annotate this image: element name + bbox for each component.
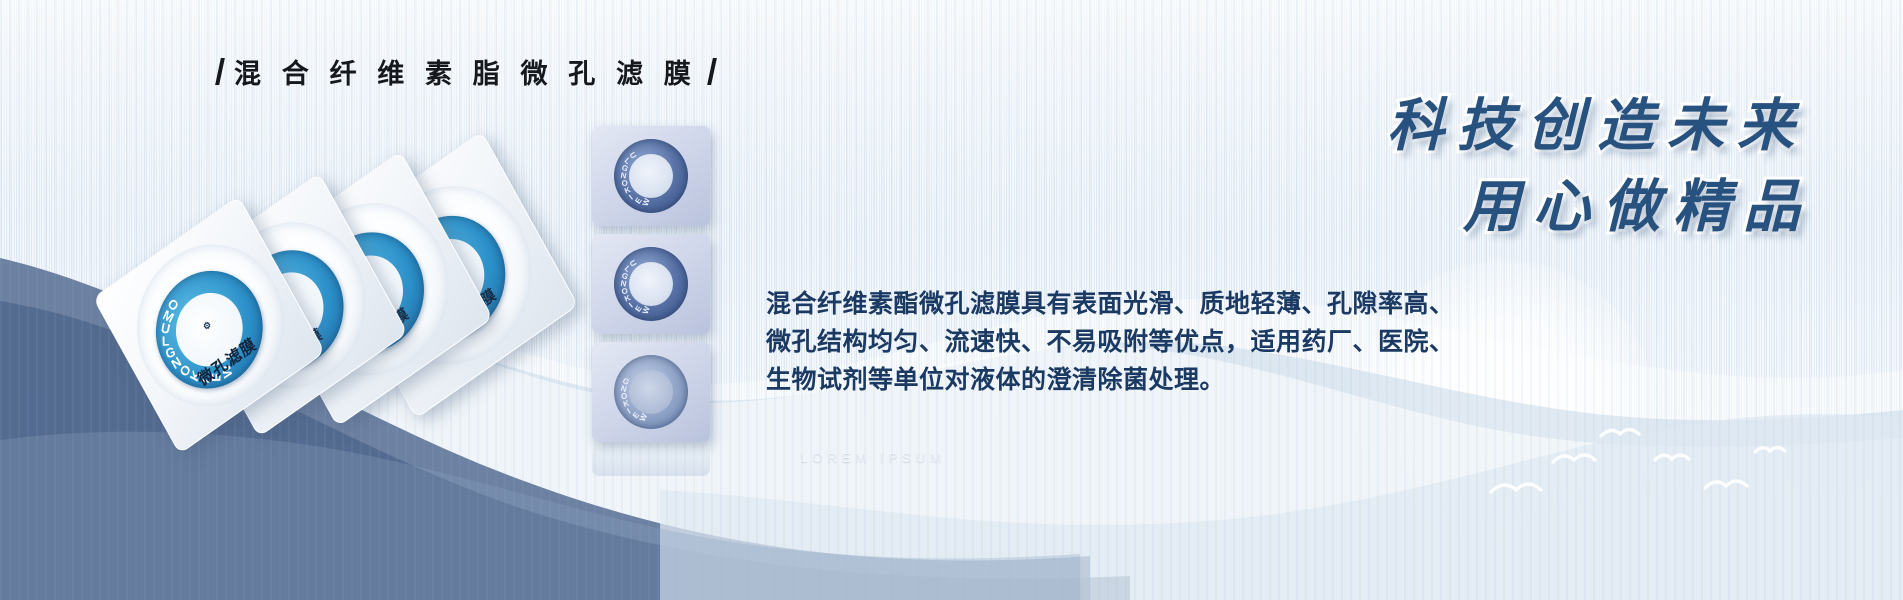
membrane-sample-1: W E I K O N G L U bbox=[592, 126, 710, 226]
membrane-sample-3: W E I K O N G bbox=[592, 342, 710, 442]
headline-line-1: 科技创造未来 bbox=[1387, 86, 1807, 167]
lead-title-text: 混 合 纤 维 素 脂 微 孔 滤 膜 bbox=[234, 52, 698, 91]
headline-line-2: 用心做精品 bbox=[1387, 167, 1813, 248]
sample-label-1: W E I K O N G L U bbox=[614, 139, 688, 213]
sample-reflection bbox=[592, 442, 710, 476]
description-line-1: 混合纤维素酯微孔滤膜具有表面光滑、质地轻薄、孔隙率高、 bbox=[766, 286, 1446, 324]
sample-ring-3: W E I K O N G bbox=[614, 355, 688, 429]
watermark-text: LOREM IPSUM bbox=[800, 450, 946, 465]
description-line-2: 微孔结构均匀、流速快、不易吸附等优点，适用药厂、医院、 bbox=[766, 324, 1446, 362]
sample-label-2: W E I K O N G L U bbox=[614, 247, 688, 321]
membrane-sample-column: W E I K O N G L U W E I K bbox=[592, 126, 710, 450]
product-stack: W E I K O N G L U M O ⚙ 微孔滤膜 bbox=[118, 132, 548, 432]
membrane-sample-2: W E I K O N G L U bbox=[592, 234, 710, 334]
description-paragraph: 混合纤维素酯微孔滤膜具有表面光滑、质地轻薄、孔隙率高、 微孔结构均匀、流速快、不… bbox=[766, 286, 1446, 400]
headline-block: 科技创造未来 用心做精品 bbox=[1387, 86, 1807, 248]
birds-flock bbox=[1483, 400, 1813, 540]
promo-banner: LOREM IPSUM 混 合 纤 维 素 脂 微 孔 滤 膜 科技创造未来 用… bbox=[0, 0, 1903, 600]
lead-title: 混 合 纤 维 素 脂 微 孔 滤 膜 bbox=[218, 52, 714, 91]
sample-label-3: W E I K O N G bbox=[614, 355, 688, 429]
sample-ring-2: W E I K O N G L U bbox=[614, 247, 688, 321]
sample-ring-1: W E I K O N G L U bbox=[614, 139, 688, 213]
description-line-3: 生物试剂等单位对液体的澄清除菌处理。 bbox=[766, 362, 1446, 400]
